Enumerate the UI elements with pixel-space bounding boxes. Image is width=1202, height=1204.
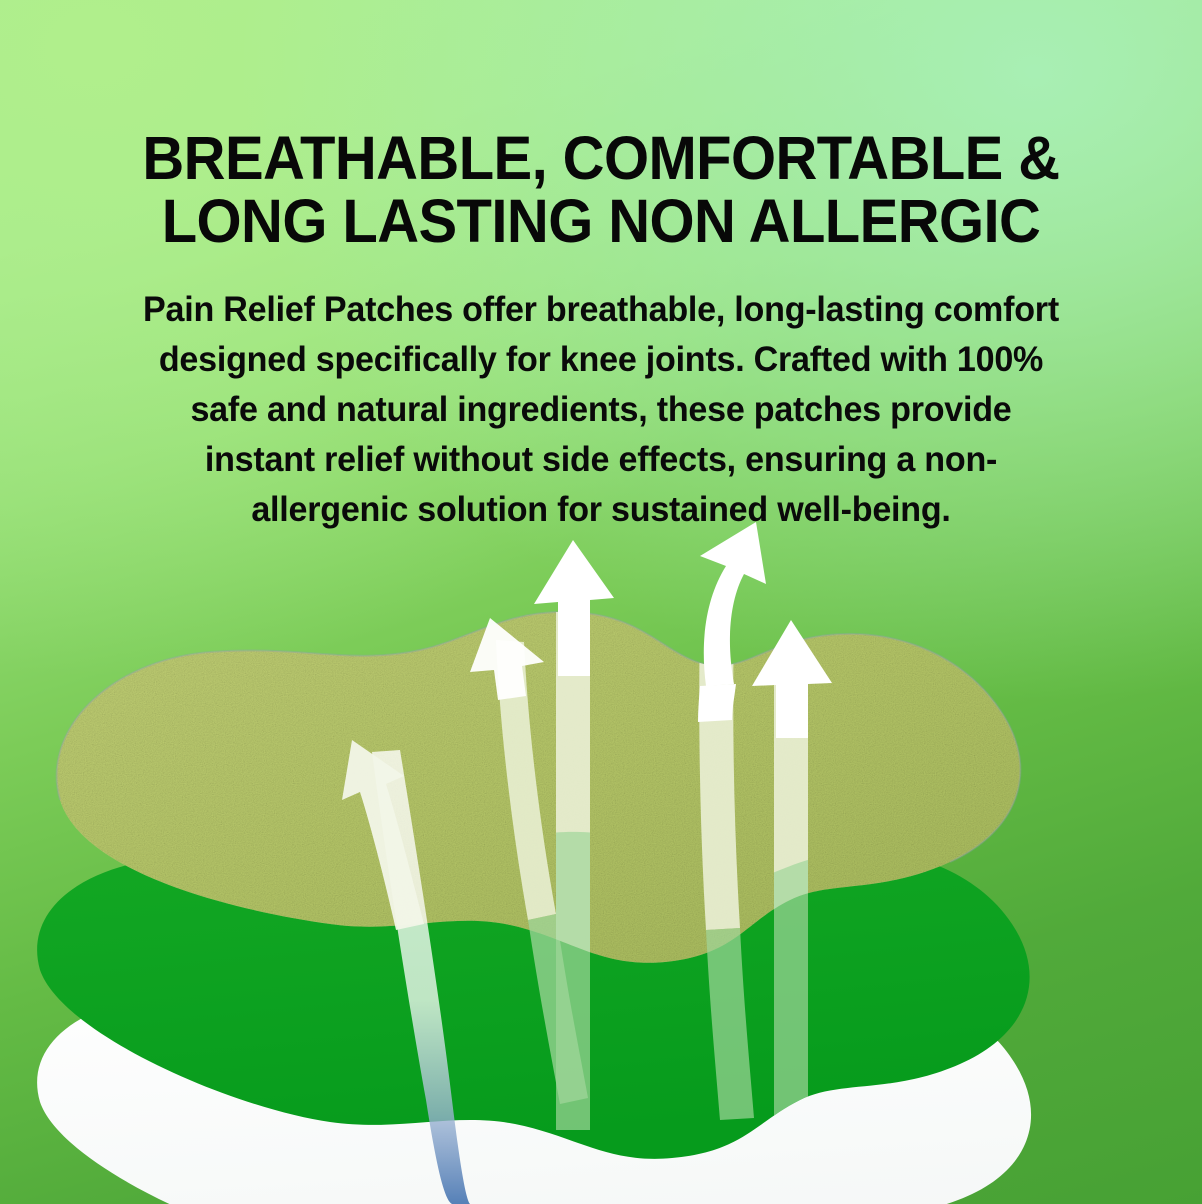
body-line-2: designed specifically for knee joints. C… <box>107 334 1096 384</box>
body-line-3: safe and natural ingredients, these patc… <box>107 384 1096 434</box>
body-description: Pain Relief Patches offer breathable, lo… <box>107 284 1096 534</box>
headline-line-1: BREATHABLE, COMFORTABLE & <box>30 127 1172 190</box>
layered-patch-illustration <box>0 500 1202 1204</box>
page-title: BREATHABLE, COMFORTABLE & LONG LASTING N… <box>30 127 1172 253</box>
product-infographic-poster: BREATHABLE, COMFORTABLE & LONG LASTING N… <box>0 0 1202 1204</box>
body-line-1: Pain Relief Patches offer breathable, lo… <box>107 284 1096 334</box>
headline-line-2: LONG LASTING NON ALLERGIC <box>30 190 1172 253</box>
body-line-4: instant relief without side effects, ens… <box>107 434 1096 484</box>
